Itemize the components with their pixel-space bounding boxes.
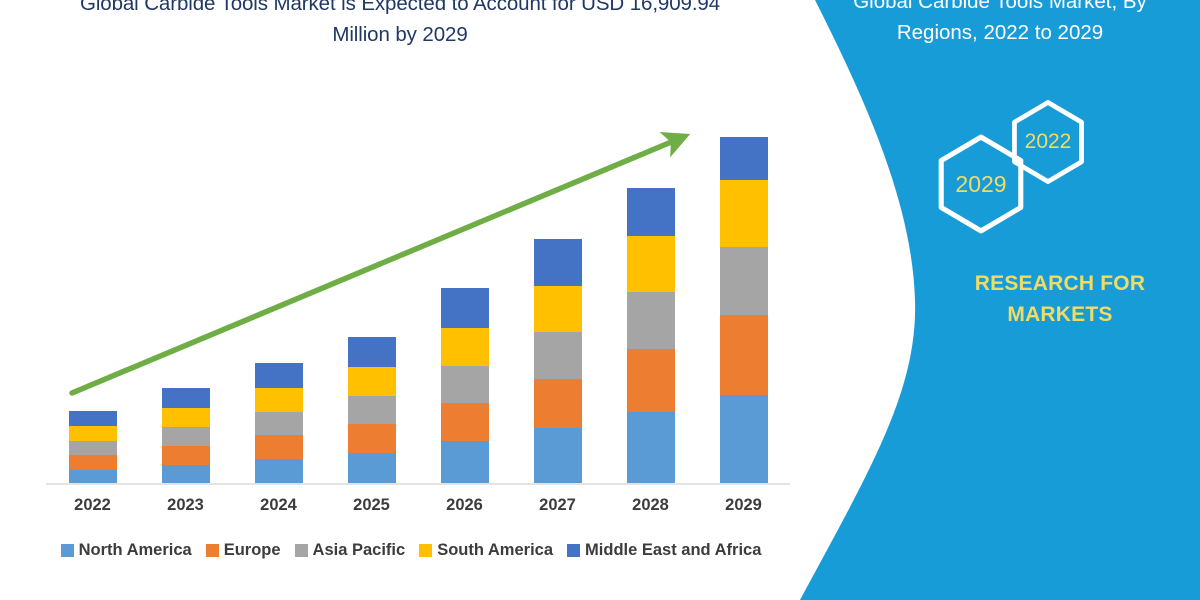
bar-segment xyxy=(534,239,582,286)
bar-segment xyxy=(348,453,396,485)
chart-legend: North AmericaEuropeAsia PacificSouth Ame… xyxy=(46,538,790,562)
legend-item-label: North America xyxy=(79,541,192,560)
bar-segment xyxy=(720,137,768,180)
x-axis-tick-label: 2023 xyxy=(141,496,231,515)
bar-segment xyxy=(441,328,489,366)
legend-item[interactable]: North America xyxy=(61,541,192,560)
x-axis-line xyxy=(46,483,790,485)
legend-item-label: Middle East and Africa xyxy=(585,541,761,560)
hexagon-badges: 2029 2022 xyxy=(920,105,1120,235)
brand-panel-title: Global Carbide Tools Market, By Regions,… xyxy=(810,0,1190,48)
bar-group xyxy=(46,110,786,485)
bar-segment xyxy=(162,408,210,427)
bar-segment xyxy=(441,366,489,403)
bar-segment xyxy=(255,388,303,412)
x-axis-tick-labels: 20222023202420252026202720282029 xyxy=(46,496,790,522)
x-axis-tick-label: 2022 xyxy=(48,496,138,515)
bar-segment xyxy=(441,403,489,441)
chart-panel: Global Carbide Tools Market is Expected … xyxy=(0,0,820,600)
brand-line-1: RESEARCH FOR xyxy=(930,268,1190,299)
hexagon-2022-label: 2022 xyxy=(1005,99,1091,185)
bar-segment xyxy=(348,367,396,396)
bar-segment xyxy=(534,332,582,379)
bar-segment xyxy=(534,428,582,485)
x-axis-tick-label: 2027 xyxy=(513,496,603,515)
bar-segment xyxy=(627,236,675,292)
bar-segment xyxy=(255,412,303,435)
infographic-root: Global Carbide Tools Market is Expected … xyxy=(0,0,1200,600)
legend-swatch-icon xyxy=(419,544,432,557)
x-axis-tick-label: 2025 xyxy=(327,496,417,515)
bar-segment xyxy=(627,349,675,412)
bar-column xyxy=(627,188,675,485)
bar-segment xyxy=(162,446,210,465)
legend-item[interactable]: South America xyxy=(419,541,553,560)
bar-column xyxy=(255,363,303,485)
bar-segment xyxy=(162,388,210,408)
bar-segment xyxy=(720,180,768,247)
chart-plot-area xyxy=(46,110,786,485)
legend-swatch-icon xyxy=(61,544,74,557)
bar-column xyxy=(348,337,396,485)
bar-segment xyxy=(162,427,210,446)
hexagon-badge-2022: 2022 xyxy=(1005,99,1091,185)
bar-segment xyxy=(720,395,768,485)
bar-segment xyxy=(627,188,675,236)
brand-line-2: MARKETS xyxy=(930,299,1190,330)
legend-swatch-icon xyxy=(295,544,308,557)
bar-segment xyxy=(69,441,117,455)
bar-segment xyxy=(348,424,396,453)
chart-title: Global Carbide Tools Market is Expected … xyxy=(60,0,740,50)
bar-segment xyxy=(348,396,396,424)
bar-segment xyxy=(441,288,489,328)
bar-segment xyxy=(255,459,303,485)
bar-column xyxy=(162,388,210,485)
bar-segment xyxy=(69,455,117,470)
bar-segment xyxy=(69,411,117,426)
legend-item-label: Europe xyxy=(224,541,281,560)
bar-segment xyxy=(255,435,303,459)
legend-swatch-icon xyxy=(567,544,580,557)
bar-segment xyxy=(720,315,768,395)
x-axis-tick-label: 2029 xyxy=(699,496,789,515)
bar-column xyxy=(720,137,768,485)
bar-segment xyxy=(534,379,582,428)
legend-swatch-icon xyxy=(206,544,219,557)
bar-segment xyxy=(720,247,768,315)
legend-item[interactable]: Middle East and Africa xyxy=(567,541,761,560)
legend-item-label: South America xyxy=(437,541,553,560)
bar-segment xyxy=(627,292,675,349)
bar-segment xyxy=(69,426,117,441)
bar-segment xyxy=(441,441,489,485)
legend-item[interactable]: Asia Pacific xyxy=(295,541,406,560)
x-axis-tick-label: 2028 xyxy=(606,496,696,515)
legend-item[interactable]: Europe xyxy=(206,541,281,560)
bar-column xyxy=(69,411,117,485)
bar-segment xyxy=(162,465,210,485)
bar-segment xyxy=(627,412,675,485)
x-axis-tick-label: 2024 xyxy=(234,496,324,515)
bar-segment xyxy=(348,337,396,367)
legend-item-label: Asia Pacific xyxy=(313,541,406,560)
brand-wordmark: RESEARCH FOR MARKETS xyxy=(930,268,1190,330)
bar-segment xyxy=(534,286,582,332)
bar-column xyxy=(441,288,489,485)
bar-segment xyxy=(255,363,303,388)
x-axis-tick-label: 2026 xyxy=(420,496,510,515)
bar-column xyxy=(534,239,582,485)
